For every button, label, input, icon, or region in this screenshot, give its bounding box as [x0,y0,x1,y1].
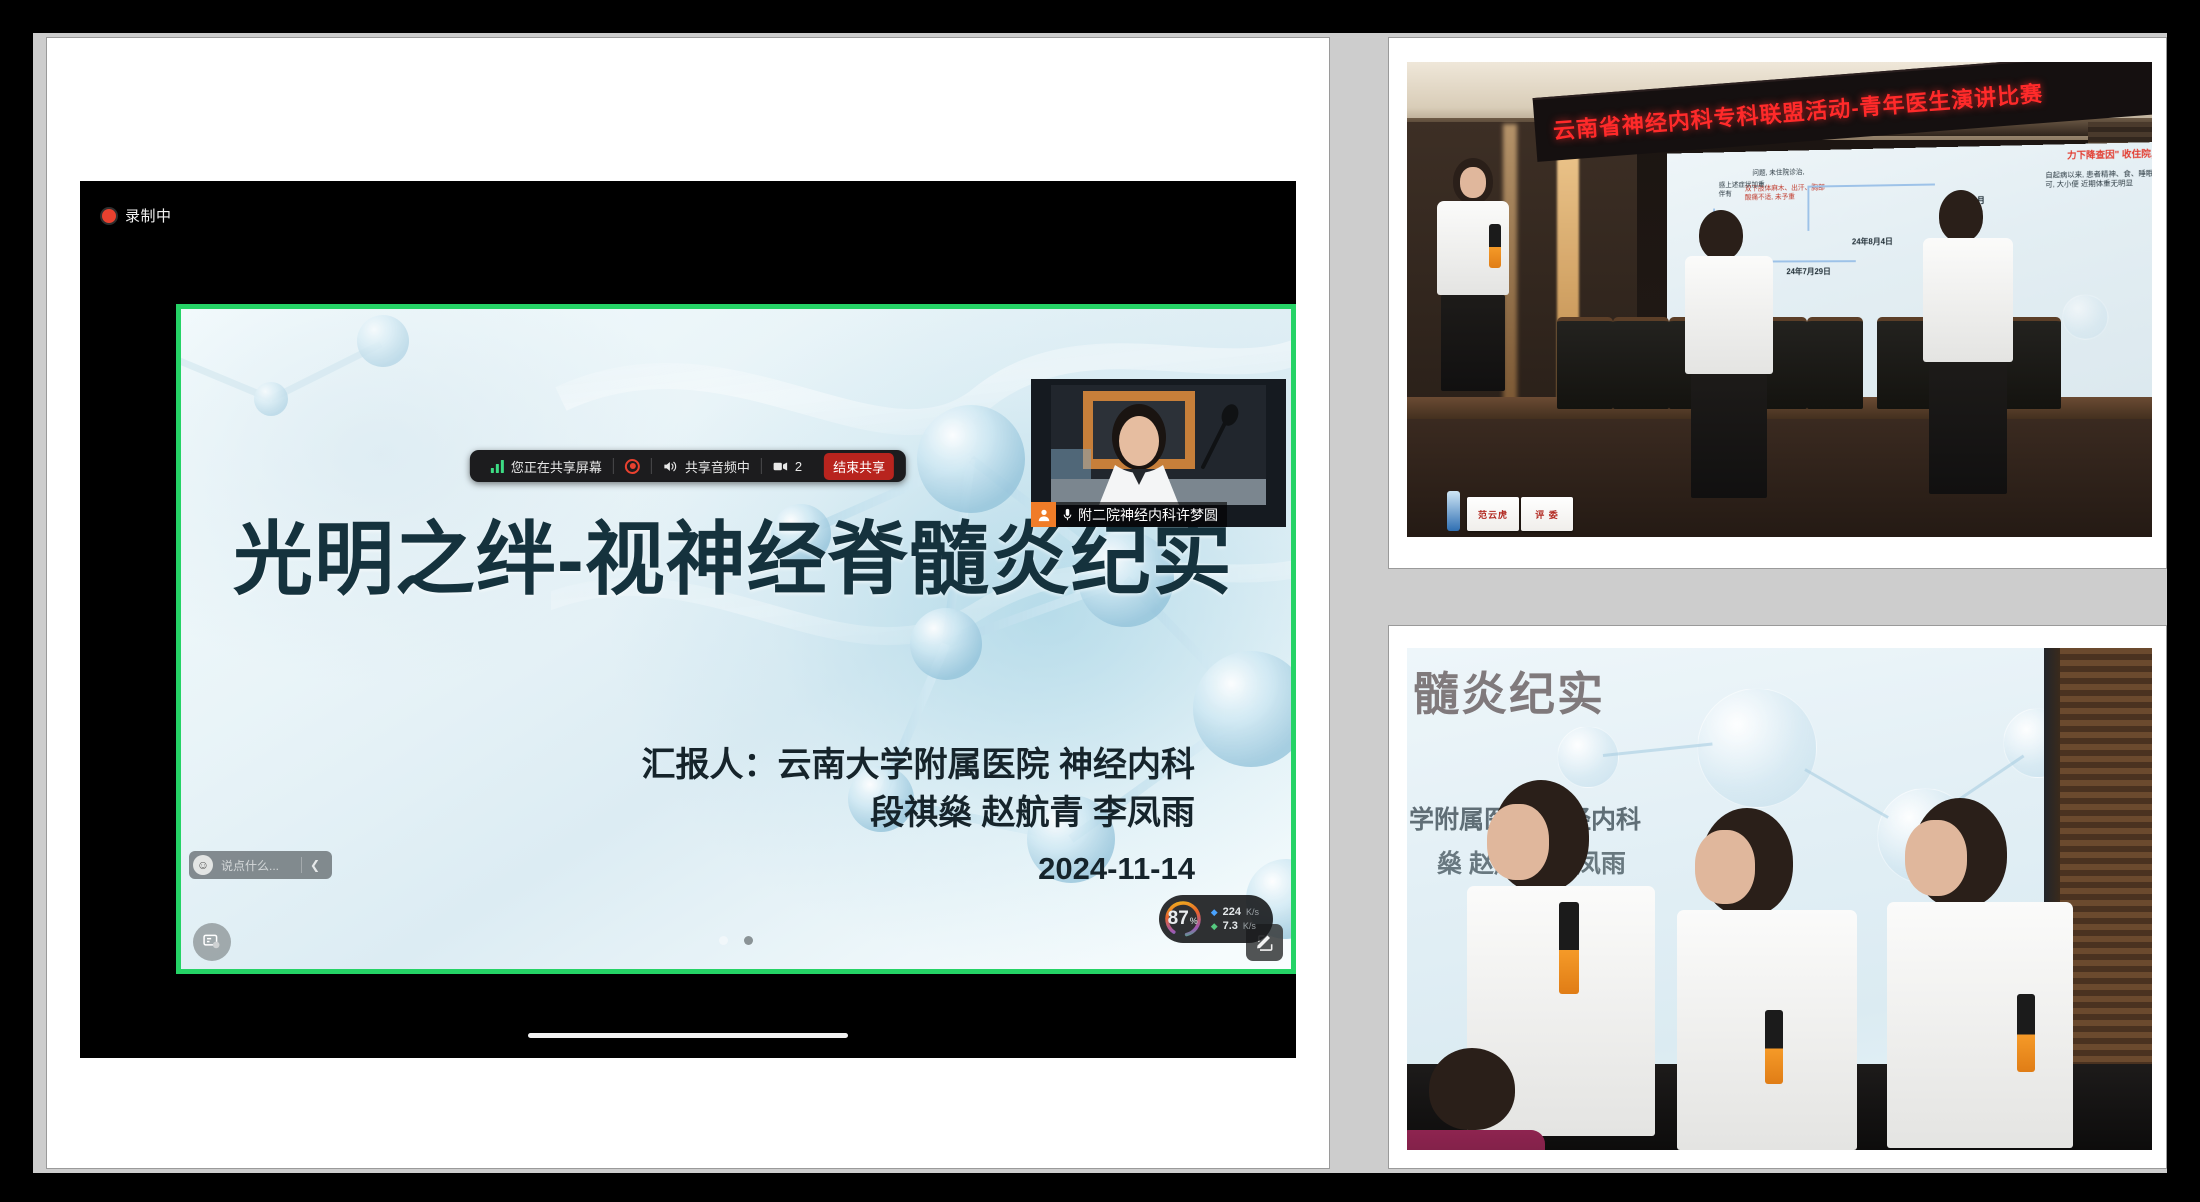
nameplate-2: 评 委 [1521,497,1573,531]
timeline-date-1: 24年7月29日 [1786,266,1830,277]
projected-molecule-icon [2062,294,2108,340]
upload-value: 7.3 [1223,920,1238,932]
screenshot-root: 录制中 [0,0,2200,1202]
speaker-person-1 [1453,158,1509,391]
recording-label: 录制中 [125,205,172,226]
stage-person-1-head [1493,780,1589,892]
projected-slide-title: 髓炎纪实 [1413,658,1605,724]
microphone-icon [1062,508,1073,522]
stage-person-3-microphone-icon [2017,994,2035,1072]
nameplate-1: 范云虎 [1467,497,1519,531]
share-audio-label: 共享音频中 [685,457,750,476]
timeline-date-2: 24年8月4日 [1852,236,1893,247]
person-1-skirt [1441,295,1505,391]
percent-symbol: % [1190,916,1198,926]
photo-conference-hall: 云南省神经内科专科联盟活动-青年医生演讲比赛 力下降查因" 收住院, 问题, 未… [1407,62,2152,537]
cpu-percent-readout: 87% [1159,895,1207,943]
cpu-percent-value: 87 [1168,908,1189,930]
recording-video-frame[interactable]: 录制中 [80,181,1296,1058]
stage-molecule-1 [1697,688,1817,808]
slide-date: 2024-11-14 [181,844,1195,894]
signal-bars-icon [491,460,504,473]
upload-arrow-icon: ◆ [1211,921,1218,932]
stage-bond-3 [1958,755,2024,801]
left-document-panel: 录制中 [46,37,1330,1169]
stage-molecule-2 [1557,726,1619,788]
stage-person-3-head [1913,798,2007,908]
end-share-button[interactable]: 结束共享 [824,453,894,480]
pagination-dot-1[interactable] [719,936,728,945]
stage-person-1-face [1487,804,1549,880]
upload-rate-row: ◆ 7.3 K/s [1211,920,1259,932]
participants-icon [773,460,788,473]
download-value: 224 [1223,906,1241,918]
speaker-person-2 [1685,210,1773,498]
speaker-icon [663,460,678,473]
participant-count: 2 [795,459,802,474]
recording-badge: 录制中 [102,205,172,226]
stage-person-3-shirt [1887,902,2073,1148]
stage-person-3 [1887,798,2073,1148]
speaker-person-3 [1923,190,2013,494]
recording-dot-icon [102,209,116,223]
participant-video-thumbnail[interactable]: 附二院神经内科许梦圆 [1031,379,1286,527]
download-rate-row: ◆ 224 K/s [1211,906,1259,918]
stage-person-1-microphone-icon [1559,902,1579,994]
person-1-head [1453,158,1493,204]
slide-names-line: 段祺燊 赵航青 李凤雨 [181,789,1195,837]
person-3-shirt [1923,238,2013,362]
avatar [1031,502,1056,527]
chair-1 [1557,317,1613,409]
person-icon [1037,508,1051,522]
participant-name-bar: 附二院神经内科许梦圆 [1031,502,1227,527]
download-arrow-icon: ◆ [1211,907,1218,918]
person-2-skirt [1691,374,1767,498]
projected-note-right: 自起病以来, 患者精神、食、睡眠可, 大小便 近期体重无明显 [2045,169,2152,190]
projected-red-heading: 力下降查因" 收住院, [2067,146,2152,161]
pagination-dot-2[interactable] [744,936,753,945]
water-bottle [1447,491,1460,531]
stage-person-2 [1677,808,1857,1150]
stage-person-2-microphone-icon [1765,1010,1783,1084]
sharing-status-item: 您正在共享屏幕 [480,450,613,482]
photo-three-speakers: 髓炎纪实 学附属医院 神经内科 燊 赵航青 李凤雨 [1407,648,2152,1150]
chair-8 [2005,317,2061,409]
stage-person-2-head [1701,808,1793,916]
chair-5 [1807,317,1863,409]
chat-bubble-icon[interactable] [193,923,231,961]
stage-person-3-face [1905,820,1967,896]
person-3-skirt [1929,362,2007,494]
right-bottom-photo-panel: 髓炎纪实 学附属医院 神经内科 燊 赵航青 李凤雨 [1388,625,2167,1169]
chat-bubble-glyph [202,932,222,952]
slide-pagination[interactable] [719,936,753,945]
projected-note-top: 问题, 未住院诊治, [1752,167,1844,178]
person-2-shirt [1685,256,1773,374]
screen-share-toolbar[interactable]: 您正在共享屏幕 共享音频中 [470,450,906,482]
slide-presenter-block: 汇报人：云南大学附属医院 神经内科 段祺燊 赵航青 李凤雨 2024-11-14 [181,741,1195,893]
record-circle-icon [625,459,640,474]
upload-unit: K/s [1243,921,1256,931]
person-2-head [1699,210,1743,260]
chair-2 [1613,317,1669,409]
audience-head [1429,1048,1515,1130]
stage-person-2-face [1695,830,1755,904]
network-monitor-widget: 87% ◆ 224 K/s ◆ 7.3 K/s [1159,895,1273,943]
comment-composer[interactable]: ☺ 说点什么... ❮ [189,851,332,879]
chevron-left-icon[interactable]: ❮ [302,858,328,872]
sharing-status-label: 您正在共享屏幕 [511,457,602,476]
timeline-bracket-2 [1807,183,1934,230]
emoji-icon[interactable]: ☺ [193,855,213,875]
cpu-gauge: 87% [1159,895,1207,943]
person-1-face [1460,167,1486,198]
audience-shoulders [1407,1130,1545,1150]
projected-note-left: 感上述症状加重, 伴有 [1719,180,1770,199]
audience-person [1429,1048,1545,1150]
share-audio-item[interactable]: 共享音频中 [652,450,761,482]
right-top-photo-panel: 云南省神经内科专科联盟活动-青年医生演讲比赛 力下降查因" 收住院, 问题, 未… [1388,37,2167,569]
person-3-head [1939,190,1983,242]
end-share-wrap[interactable]: 结束共享 [813,450,896,482]
home-indicator-bar [528,1033,848,1038]
slide-presenter-line: 汇报人：云南大学附属医院 神经内科 [181,741,1195,789]
stage-scene: 髓炎纪实 学附属医院 神经内科 燊 赵航青 李凤雨 [1407,648,2152,1150]
comment-input-placeholder[interactable]: 说点什么... [213,857,301,874]
network-rates: ◆ 224 K/s ◆ 7.3 K/s [1211,906,1259,932]
person-1-microphone-icon [1489,224,1501,268]
participant-name-text-wrap: 附二院神经内科许梦圆 [1056,505,1227,525]
hall-scene: 云南省神经内科专科联盟活动-青年医生演讲比赛 力下降查因" 收住院, 问题, 未… [1407,62,2152,537]
download-unit: K/s [1246,907,1259,917]
participants-item[interactable]: 2 [762,450,813,482]
participant-name-label: 附二院神经内科许梦圆 [1078,505,1218,525]
record-indicator-button[interactable] [614,450,651,482]
